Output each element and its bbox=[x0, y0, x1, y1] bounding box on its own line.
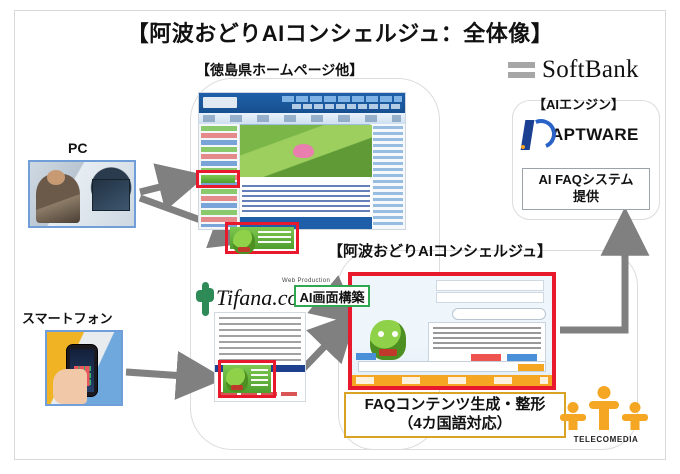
pc-person-head-icon bbox=[47, 170, 66, 185]
tokushima-site-label: 【徳島県ホームページ他】 bbox=[196, 60, 363, 80]
ai-answer-text-lines bbox=[433, 327, 541, 351]
site-hero-image bbox=[240, 125, 372, 177]
ai-faq-line-1: AI FAQシステム bbox=[539, 172, 634, 187]
softbank-logo-text: SoftBank bbox=[542, 56, 639, 84]
ai-send-button bbox=[518, 364, 544, 371]
awaodori-mascot-icon bbox=[233, 230, 255, 254]
ai-engine-label: 【AIエンジン】 bbox=[533, 94, 624, 113]
page-text-lines bbox=[219, 317, 301, 361]
figure-head bbox=[568, 402, 579, 413]
site-highlight-banner-bottom bbox=[225, 222, 299, 254]
ai-screen-build-box: AI画面構築 bbox=[294, 285, 370, 307]
tokushima-website-thumbnail bbox=[198, 92, 406, 230]
aptware-logo-text: APTWARE bbox=[551, 125, 639, 145]
ai-faq-system-text: AI FAQシステム 提供 bbox=[539, 172, 634, 206]
cactus-icon bbox=[196, 282, 214, 316]
highlight-green-banner bbox=[230, 227, 294, 249]
aptware-dot-icon bbox=[521, 145, 525, 149]
smartphone-label: スマートフォン bbox=[22, 308, 113, 327]
highlight-text-lines bbox=[251, 369, 268, 389]
ai-concierge-label: 【阿波おどりAIコンシェルジュ】 bbox=[328, 240, 552, 261]
smartphone-photo bbox=[45, 330, 123, 406]
faq-contents-box: FAQコンテンツ生成・整形 （4カ国語対応） bbox=[344, 392, 566, 438]
ai-input-row-1 bbox=[436, 280, 544, 291]
telecomedia-figure-left bbox=[560, 402, 586, 430]
page-title: 【阿波おどりAIコンシェルジュ：全体像】 bbox=[0, 16, 680, 48]
site-header-links bbox=[292, 104, 402, 109]
ai-faq-line-2: 提供 bbox=[573, 189, 599, 204]
telecomedia-figure-center bbox=[589, 386, 619, 430]
pc-photo bbox=[28, 160, 136, 228]
pc-label: PC bbox=[68, 140, 87, 156]
site-news-list bbox=[240, 179, 372, 217]
ai-concierge-screen bbox=[348, 272, 556, 390]
mascot-eye-right bbox=[392, 331, 398, 337]
highlight-green-banner bbox=[223, 365, 271, 393]
telecomedia-logo: TELECOMEDIA bbox=[556, 382, 656, 444]
site-highlight-banner-top bbox=[196, 170, 240, 188]
smartphone-photo-image bbox=[47, 332, 121, 404]
aptware-mark-icon bbox=[520, 119, 550, 151]
site-header-bar bbox=[199, 93, 405, 113]
awaodori-mascot-icon bbox=[226, 368, 248, 392]
softbank-bars-icon bbox=[508, 62, 535, 78]
figure-body bbox=[631, 419, 640, 430]
telecomedia-logo-text: TELECOMEDIA bbox=[556, 435, 656, 444]
figure-head bbox=[630, 402, 641, 413]
figure-body bbox=[569, 419, 578, 430]
softbank-logo: SoftBank bbox=[508, 56, 639, 84]
site-logo-icon bbox=[203, 97, 237, 108]
ai-screen-body bbox=[352, 276, 552, 386]
ai-side-tab bbox=[356, 353, 376, 360]
aptware-logo: APTWARE bbox=[520, 118, 652, 152]
pc-monitor-chart-icon bbox=[96, 182, 123, 200]
ai-suggestion-pill bbox=[452, 308, 546, 320]
cactus-arm-right bbox=[208, 288, 214, 302]
tifana-highlight-banner bbox=[218, 360, 276, 398]
cactus-arm-left bbox=[196, 290, 202, 302]
ai-footer-bar bbox=[352, 375, 552, 386]
highlight-text-lines bbox=[258, 231, 291, 245]
diagram-canvas: 【阿波おどりAIコンシェルジュ：全体像】 PC スマートフォン bbox=[0, 0, 680, 474]
faq-contents-text: FAQコンテンツ生成・整形 （4カ国語対応） bbox=[365, 396, 546, 434]
faq-contents-line-2: （4カ国語対応） bbox=[398, 415, 511, 432]
hand-icon bbox=[53, 369, 87, 404]
figure-body bbox=[599, 407, 609, 430]
faq-contents-line-1: FAQコンテンツ生成・整形 bbox=[365, 396, 546, 413]
highlight-green-banner bbox=[201, 175, 235, 183]
telecomedia-figure-right bbox=[622, 402, 648, 430]
ai-faq-system-box: AI FAQシステム 提供 bbox=[522, 168, 650, 210]
site-header-buttons bbox=[282, 96, 402, 102]
ai-input-row-2 bbox=[436, 292, 544, 303]
pc-photo-image bbox=[30, 162, 134, 226]
site-right-sidebar bbox=[370, 124, 405, 229]
mascot-eye-left bbox=[378, 331, 384, 337]
figure-head bbox=[598, 386, 611, 399]
tifana-logo-subtitle: Web Production bbox=[282, 278, 330, 284]
